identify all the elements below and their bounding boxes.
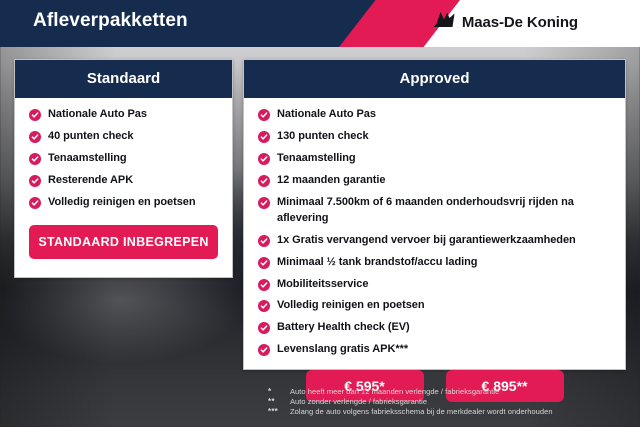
check-circle-icon: [29, 175, 41, 187]
check-circle-icon: [29, 197, 41, 209]
feature-label: Volledig reinigen en poetsen: [277, 298, 425, 314]
footnote-row: ***Zolang de auto volgens fabrieksschema…: [268, 407, 628, 416]
feature-item: 130 punten check: [258, 129, 611, 145]
afleverpakketten-page: Afleverpakketten Maas-De Koning Standaar…: [0, 0, 640, 427]
check-circle-icon: [29, 131, 41, 143]
check-circle-icon: [258, 235, 270, 247]
feature-label: Tenaamstelling: [48, 151, 127, 167]
brand-name: Maas-De Koning: [462, 14, 578, 31]
check-circle-icon: [258, 175, 270, 187]
feature-item: Tenaamstelling: [29, 151, 218, 167]
feature-item: 12 maanden garantie: [258, 173, 611, 189]
check-circle-icon: [258, 257, 270, 269]
footnote-text: Zolang de auto volgens fabrieksschema bi…: [290, 407, 553, 416]
feature-label: Levenslang gratis APK***: [277, 342, 408, 358]
feature-item: Nationale Auto Pas: [29, 107, 218, 123]
feature-item: Minimaal 7.500km of 6 maanden onderhouds…: [258, 195, 611, 227]
page-title: Afleverpakketten: [33, 10, 188, 32]
feature-label: Minimaal 7.500km of 6 maanden onderhouds…: [277, 195, 611, 227]
card-standaard-heading: Standaard: [15, 60, 232, 98]
page-header: Afleverpakketten Maas-De Koning: [0, 0, 640, 47]
feature-item: Nationale Auto Pas: [258, 107, 611, 123]
feature-item: Volledig reinigen en poetsen: [29, 195, 218, 211]
check-circle-icon: [258, 279, 270, 291]
standaard-feature-list: Nationale Auto Pas40 punten checkTenaams…: [29, 107, 218, 211]
check-circle-icon: [258, 344, 270, 356]
footnote-text: Auto heeft meer dan 12 maanden verlengde…: [290, 387, 499, 396]
feature-label: Resterende APK: [48, 173, 133, 189]
check-circle-icon: [258, 109, 270, 121]
feature-item: 40 punten check: [29, 129, 218, 145]
feature-item: Minimaal ½ tank brandstof/accu lading: [258, 255, 611, 271]
feature-label: 12 maanden garantie: [277, 173, 385, 189]
feature-label: Battery Health check (EV): [277, 320, 410, 336]
feature-label: 40 punten check: [48, 129, 133, 145]
feature-label: Nationale Auto Pas: [48, 107, 147, 123]
approved-feature-list: Nationale Auto Pas130 punten checkTenaam…: [258, 107, 611, 358]
card-approved: Approved Nationale Auto Pas130 punten ch…: [243, 59, 626, 370]
feature-label: Nationale Auto Pas: [277, 107, 376, 123]
feature-label: Tenaamstelling: [277, 151, 356, 167]
check-circle-icon: [258, 197, 270, 209]
check-circle-icon: [258, 322, 270, 334]
feature-item: Tenaamstelling: [258, 151, 611, 167]
feature-label: 130 punten check: [277, 129, 369, 145]
maas-de-koning-m-mark-icon: [433, 11, 455, 33]
check-circle-icon: [258, 131, 270, 143]
card-standaard: Standaard Nationale Auto Pas40 punten ch…: [14, 59, 233, 278]
feature-item: Mobiliteitsservice: [258, 277, 611, 293]
feature-item: Battery Health check (EV): [258, 320, 611, 336]
footnote-marker: *: [268, 387, 284, 396]
footnote-row: **Auto zonder verlengde / fabrieksgarant…: [268, 397, 628, 406]
footnote-marker: ***: [268, 407, 284, 416]
footnote-text: Auto zonder verlengde / fabrieksgarantie: [290, 397, 427, 406]
feature-item: Volledig reinigen en poetsen: [258, 298, 611, 314]
footnote-list: *Auto heeft meer dan 12 maanden verlengd…: [268, 387, 628, 417]
footnote-marker: **: [268, 397, 284, 406]
check-circle-icon: [29, 153, 41, 165]
check-circle-icon: [258, 300, 270, 312]
feature-item: 1x Gratis vervangend vervoer bij garanti…: [258, 233, 611, 249]
check-circle-icon: [258, 153, 270, 165]
card-approved-body: Nationale Auto Pas130 punten checkTenaam…: [244, 98, 625, 414]
check-circle-icon: [29, 109, 41, 121]
feature-item: Resterende APK: [29, 173, 218, 189]
feature-label: Volledig reinigen en poetsen: [48, 195, 196, 211]
feature-label: Minimaal ½ tank brandstof/accu lading: [277, 255, 477, 271]
footnote-row: *Auto heeft meer dan 12 maanden verlengd…: [268, 387, 628, 396]
feature-label: Mobiliteitsservice: [277, 277, 368, 293]
brand-logo: Maas-De Koning: [433, 11, 578, 33]
feature-item: Levenslang gratis APK***: [258, 342, 611, 358]
standaard-inbegrepen-button[interactable]: STANDAARD INBEGREPEN: [29, 225, 218, 259]
feature-label: 1x Gratis vervangend vervoer bij garanti…: [277, 233, 576, 249]
card-standaard-body: Nationale Auto Pas40 punten checkTenaams…: [15, 98, 232, 277]
card-approved-heading: Approved: [244, 60, 625, 98]
